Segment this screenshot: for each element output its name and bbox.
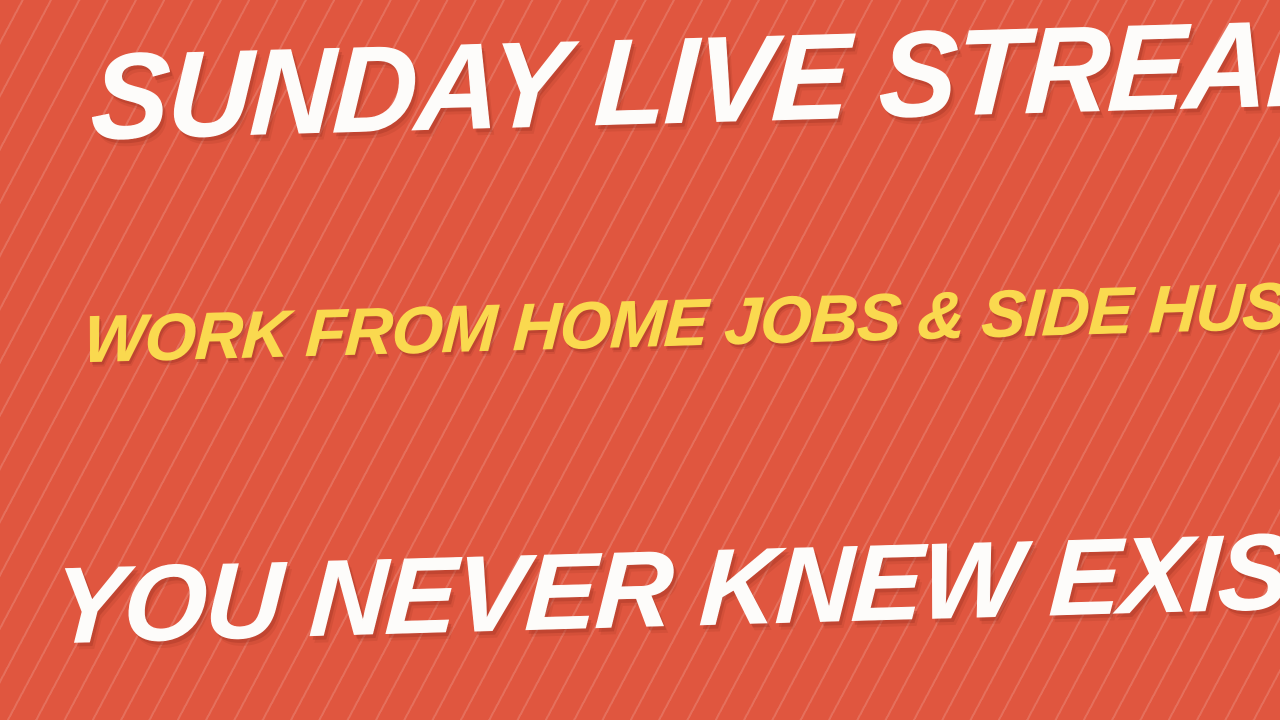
thumbnail-canvas: SUNDAY LIVE STREAM!!! WORK FROM HOME JOB… (0, 0, 1280, 720)
thumbnail-tagline: YOU NEVER KNEW EXISTED!!! (51, 509, 1280, 660)
thumbnail-subtitle: WORK FROM HOME JOBS & SIDE HUSTLES!!! (82, 266, 1280, 372)
thumbnail-title: SUNDAY LIVE STREAM!!! (89, 0, 1280, 158)
